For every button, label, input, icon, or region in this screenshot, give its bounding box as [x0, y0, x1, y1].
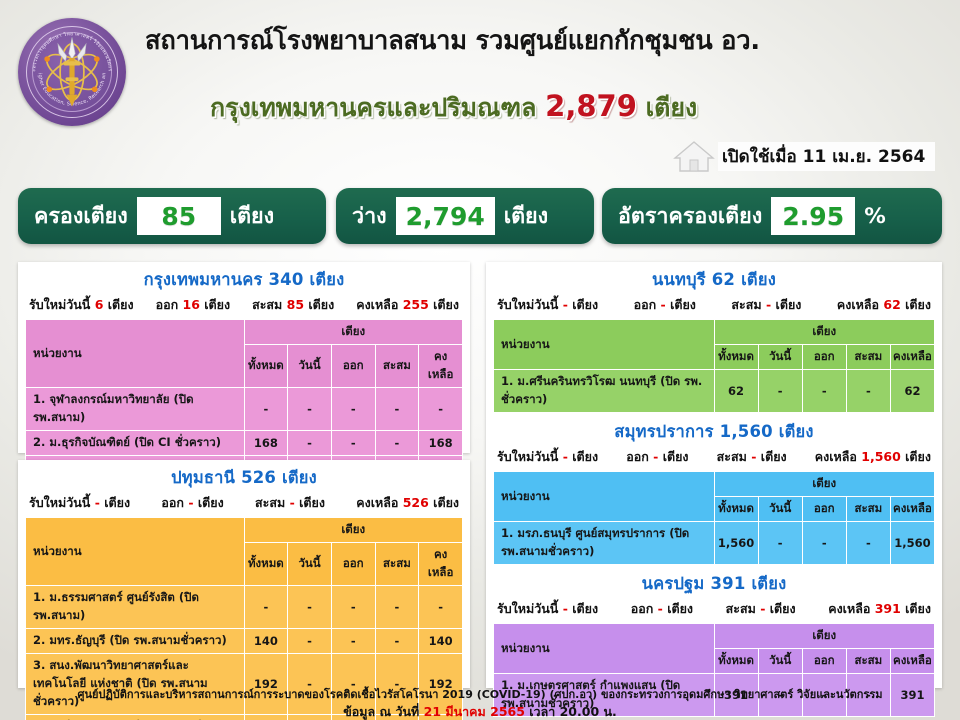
cell-today: - — [758, 522, 802, 565]
summary-new_today-nonthaburi: รับใหม่วันนี้ - เตียง — [497, 295, 598, 315]
summary-new_today-pathumthani: รับใหม่วันนี้ - เตียง — [29, 493, 130, 513]
province-summary-nonthaburi: รับใหม่วันนี้ - เตียงออก - เตียงสะสม - เ… — [493, 295, 935, 319]
summary-out-samutprakan: ออก - เตียง — [626, 447, 688, 467]
stat-occupancy-rate: อัตราครองเตียง 2.95 % — [602, 188, 942, 244]
cell-today: - — [288, 388, 332, 431]
stat-occupied-value: 85 — [161, 202, 196, 231]
cell-cumulative: - — [846, 370, 890, 413]
summary-remaining-pathumthani: คงเหลือ 526 เตียง — [356, 493, 459, 513]
stat-free-beds: ว่าง 2,794 เตียง — [336, 188, 594, 244]
cell-total: - — [244, 388, 288, 431]
cell-remaining: 1,560 — [890, 522, 934, 565]
stat-free-value-box: 2,794 — [396, 197, 495, 235]
province-summary-nakhonpathom: รับใหม่วันนี้ - เตียงออก - เตียงสะสม - เ… — [493, 599, 935, 623]
stat-rate-value: 2.95 — [782, 202, 844, 231]
summary-cumulative-nakhonpathom: สะสม - เตียง — [726, 599, 796, 619]
col-header-out: ออก — [331, 543, 375, 586]
summary-remaining-nonthaburi: คงเหลือ 62 เตียง — [837, 295, 931, 315]
province-total-beds-bangkok: 340 — [268, 270, 303, 289]
province-block-pathumthani: ปทุมธานี 526 เตียงรับใหม่วันนี้ - เตียงอ… — [25, 465, 463, 720]
mhesi-seal-logo: กระทรวงการอุดมศึกษา วิทยาศาสตร์ วิจัยและ… — [18, 18, 126, 126]
table-row: 1. ม.ธรรมศาสตร์ ศูนย์รังสิต (ปิด รพ.สนาม… — [26, 586, 463, 629]
stat-free-value: 2,794 — [406, 202, 485, 231]
province-panel-pathumthani: ปทุมธานี 526 เตียงรับใหม่วันนี้ - เตียงอ… — [18, 460, 470, 688]
col-header-today: วันนี้ — [288, 543, 332, 586]
province-title-bangkok: กรุงเทพมหานคร 340 เตียง — [25, 267, 463, 293]
col-header-remaining: คงเหลือ — [419, 345, 463, 388]
cell-out: - — [802, 522, 846, 565]
footer-date-suffix: เวลา 20.00 น. — [529, 704, 617, 719]
col-header-total: ทั้งหมด — [244, 543, 288, 586]
col-header-out: ออก — [802, 649, 846, 674]
cell-out: - — [331, 586, 375, 629]
col-header-cumulative: สะสม — [846, 345, 890, 370]
province-summary-bangkok: รับใหม่วันนี้ 6 เตียงออก 16 เตียงสะสม 85… — [25, 295, 463, 319]
summary-cumulative-pathumthani: สะสม - เตียง — [255, 493, 325, 513]
summary-remaining-nakhonpathom: คงเหลือ 391 เตียง — [828, 599, 931, 619]
cell-remaining: - — [419, 388, 463, 431]
summary-out-pathumthani: ออก - เตียง — [161, 493, 223, 513]
page-title: สถานการณ์โรงพยาบาลสนาม รวมศูนย์แยกกักชุม… — [145, 26, 945, 58]
col-header-total: ทั้งหมด — [714, 649, 758, 674]
province-summary-samutprakan: รับใหม่วันนี้ - เตียงออก - เตียงสะสม - เ… — [493, 447, 935, 471]
stat-rate-unit: % — [864, 204, 886, 229]
col-header-cumulative: สะสม — [846, 649, 890, 674]
cell-today: - — [288, 586, 332, 629]
cell-today: - — [288, 629, 332, 654]
province-block-bangkok: กรุงเทพมหานคร 340 เตียงรับใหม่วันนี้ 6 เ… — [25, 267, 463, 481]
cell-unit-name: 1. มรภ.ธนบุรี ศูนย์สมุทรปราการ (ปิด รพ.ส… — [494, 522, 715, 565]
stat-occupied-label: ครองเตียง — [34, 199, 128, 233]
table-row: 1. จุฬาลงกรณ์มหาวิทยาลัย (ปิด รพ.สนาม)--… — [26, 388, 463, 431]
col-header-unit: หน่วยงาน — [494, 472, 715, 522]
summary-out-bangkok: ออก 16 เตียง — [156, 295, 231, 315]
cell-remaining: 62 — [890, 370, 934, 413]
stat-occupied-unit: เตียง — [230, 199, 274, 233]
subtitle-total-beds: 2,879 — [545, 89, 637, 123]
subtitle-unit: เตียง — [646, 93, 698, 122]
col-header-out: ออก — [331, 345, 375, 388]
beds-table-nonthaburi: หน่วยงานเตียงทั้งหมดวันนี้ออกสะสมคงเหลือ… — [493, 319, 935, 413]
province-block-nonthaburi: นนทบุรี 62 เตียงรับใหม่วันนี้ - เตียงออก… — [493, 267, 935, 413]
cell-unit-name: 2. ม.ธุรกิจบัณฑิตย์ (ปิด CI ชั่วคราว) — [26, 431, 245, 456]
col-header-today: วันนี้ — [288, 345, 332, 388]
table-row: 1. ม.ศรีนครินทรวิโรฒ นนทบุรี (ปิด รพ. ชั… — [494, 370, 935, 413]
table-row: 2. มทร.ธัญบุรี (ปิด รพ.สนามชั่วคราว)140-… — [26, 629, 463, 654]
col-header-today: วันนี้ — [758, 649, 802, 674]
col-header-unit: หน่วยงาน — [494, 320, 715, 370]
col-header-total: ทั้งหมด — [244, 345, 288, 388]
cell-out: - — [331, 388, 375, 431]
summary-cumulative-samutprakan: สะสม - เตียง — [717, 447, 787, 467]
stat-free-unit: เตียง — [504, 199, 548, 233]
cell-cumulative: - — [375, 629, 419, 654]
col-header-out: ออก — [802, 345, 846, 370]
summary-out-nakhonpathom: ออก - เตียง — [631, 599, 693, 619]
cell-today: - — [758, 370, 802, 413]
col-header-group-beds: เตียง — [714, 472, 934, 497]
page-header: กระทรวงการอุดมศึกษา วิทยาศาสตร์ วิจัยและ… — [0, 0, 960, 185]
province-panel-bangkok: กรุงเทพมหานคร 340 เตียงรับใหม่วันนี้ 6 เ… — [18, 262, 470, 453]
summary-remaining-samutprakan: คงเหลือ 1,560 เตียง — [815, 447, 931, 467]
stat-occupied-value-box: 85 — [137, 197, 221, 235]
summary-cumulative-nonthaburi: สะสม - เตียง — [731, 295, 801, 315]
province-title-nonthaburi: นนทบุรี 62 เตียง — [493, 267, 935, 293]
stat-occupied-beds: ครองเตียง 85 เตียง — [18, 188, 326, 244]
col-header-remaining: คงเหลือ — [419, 543, 463, 586]
cell-out: - — [802, 370, 846, 413]
cell-unit-name: 1. ม.ศรีนครินทรวิโรฒ นนทบุรี (ปิด รพ. ชั… — [494, 370, 715, 413]
province-panel-right-column: นนทบุรี 62 เตียงรับใหม่วันนี้ - เตียงออก… — [486, 262, 942, 688]
page-footer: ศูนย์ปฏิบัติการและบริหารสถานการณ์การระบา… — [0, 688, 960, 720]
stat-rate-value-box: 2.95 — [771, 197, 855, 235]
cell-total: 62 — [714, 370, 758, 413]
beds-table-samutprakan: หน่วยงานเตียงทั้งหมดวันนี้ออกสะสมคงเหลือ… — [493, 471, 935, 565]
beds-table-bangkok: หน่วยงานเตียงทั้งหมดวันนี้ออกสะสมคงเหลือ… — [25, 319, 463, 481]
footer-date-line: ข้อมูล ณ วันที่ 21 มีนาคม 2565 เวลา 20.0… — [0, 703, 960, 720]
page-subtitle: กรุงเทพมหานครและปริมณฑล 2,879 เตียง — [210, 88, 950, 128]
col-header-unit: หน่วยงาน — [26, 518, 245, 586]
cell-cumulative: - — [375, 388, 419, 431]
cell-cumulative: - — [375, 431, 419, 456]
col-header-remaining: คงเหลือ — [890, 497, 934, 522]
house-icon — [672, 139, 716, 173]
cell-today: - — [288, 431, 332, 456]
opened-date-banner: เปิดใช้เมื่อ 11 เม.ย. 2564 — [672, 139, 935, 173]
summary-new_today-nakhonpathom: รับใหม่วันนี้ - เตียง — [497, 599, 598, 619]
col-header-remaining: คงเหลือ — [890, 345, 934, 370]
province-total-beds-pathumthani: 526 — [241, 468, 276, 487]
table-row: 1. มรภ.ธนบุรี ศูนย์สมุทรปราการ (ปิด รพ.ส… — [494, 522, 935, 565]
col-header-cumulative: สะสม — [846, 497, 890, 522]
province-title-pathumthani: ปทุมธานี 526 เตียง — [25, 465, 463, 491]
col-header-cumulative: สะสม — [375, 543, 419, 586]
summary-remaining-bangkok: คงเหลือ 255 เตียง — [356, 295, 459, 315]
province-title-samutprakan: สมุทรปราการ 1,560 เตียง — [493, 419, 935, 445]
subtitle-region: กรุงเทพมหานครและปริมณฑล — [210, 93, 536, 122]
logo-emblem-icon: กระทรวงการอุดมศึกษา วิทยาศาสตร์ วิจัยและ… — [18, 18, 126, 126]
col-header-total: ทั้งหมด — [714, 345, 758, 370]
stat-rate-label: อัตราครองเตียง — [618, 199, 762, 233]
summary-out-nonthaburi: ออก - เตียง — [634, 295, 696, 315]
cell-total: 140 — [244, 629, 288, 654]
col-header-group-beds: เตียง — [244, 518, 462, 543]
province-title-nakhonpathom: นครปฐม 391 เตียง — [493, 571, 935, 597]
cell-out: - — [331, 431, 375, 456]
footer-org-line: ศูนย์ปฏิบัติการและบริหารสถานการณ์การระบา… — [0, 688, 960, 703]
col-header-cumulative: สะสม — [375, 345, 419, 388]
cell-total: 1,560 — [714, 522, 758, 565]
col-header-group-beds: เตียง — [714, 624, 934, 649]
col-header-today: วันนี้ — [758, 497, 802, 522]
footer-date-value: 21 มีนาคม 2565 — [424, 704, 525, 719]
province-block-samutprakan: สมุทรปราการ 1,560 เตียงรับใหม่วันนี้ - เ… — [493, 419, 935, 565]
summary-cumulative-bangkok: สะสม 85 เตียง — [252, 295, 334, 315]
cell-total: - — [244, 586, 288, 629]
province-total-beds-nonthaburi: 62 — [712, 270, 735, 289]
cell-remaining: 140 — [419, 629, 463, 654]
cell-remaining: 168 — [419, 431, 463, 456]
summary-new_today-samutprakan: รับใหม่วันนี้ - เตียง — [497, 447, 598, 467]
cell-cumulative: - — [375, 586, 419, 629]
col-header-out: ออก — [802, 497, 846, 522]
col-header-unit: หน่วยงาน — [26, 320, 245, 388]
footer-date-prefix: ข้อมูล ณ วันที่ — [343, 704, 419, 719]
cell-out: - — [331, 629, 375, 654]
col-header-total: ทั้งหมด — [714, 497, 758, 522]
province-summary-pathumthani: รับใหม่วันนี้ - เตียงออก - เตียงสะสม - เ… — [25, 493, 463, 517]
col-header-unit: หน่วยงาน — [494, 624, 715, 674]
col-header-group-beds: เตียง — [714, 320, 934, 345]
cell-unit-name: 2. มทร.ธัญบุรี (ปิด รพ.สนามชั่วคราว) — [26, 629, 245, 654]
col-header-remaining: คงเหลือ — [890, 649, 934, 674]
summary-stats: ครองเตียง 85 เตียง ว่าง 2,794 เตียง อัตร… — [0, 188, 960, 252]
table-row: 2. ม.ธุรกิจบัณฑิตย์ (ปิด CI ชั่วคราว)168… — [26, 431, 463, 456]
opened-date-label: เปิดใช้เมื่อ 11 เม.ย. 2564 — [718, 142, 935, 171]
stat-free-label: ว่าง — [352, 199, 387, 233]
col-header-group-beds: เตียง — [244, 320, 462, 345]
cell-unit-name: 1. จุฬาลงกรณ์มหาวิทยาลัย (ปิด รพ.สนาม) — [26, 388, 245, 431]
province-total-beds-nakhonpathom: 391 — [710, 574, 745, 593]
cell-unit-name: 1. ม.ธรรมศาสตร์ ศูนย์รังสิต (ปิด รพ.สนาม… — [26, 586, 245, 629]
summary-new_today-bangkok: รับใหม่วันนี้ 6 เตียง — [29, 295, 134, 315]
col-header-today: วันนี้ — [758, 345, 802, 370]
cell-total: 168 — [244, 431, 288, 456]
province-total-beds-samutprakan: 1,560 — [720, 422, 773, 441]
cell-cumulative: - — [846, 522, 890, 565]
cell-remaining: - — [419, 586, 463, 629]
